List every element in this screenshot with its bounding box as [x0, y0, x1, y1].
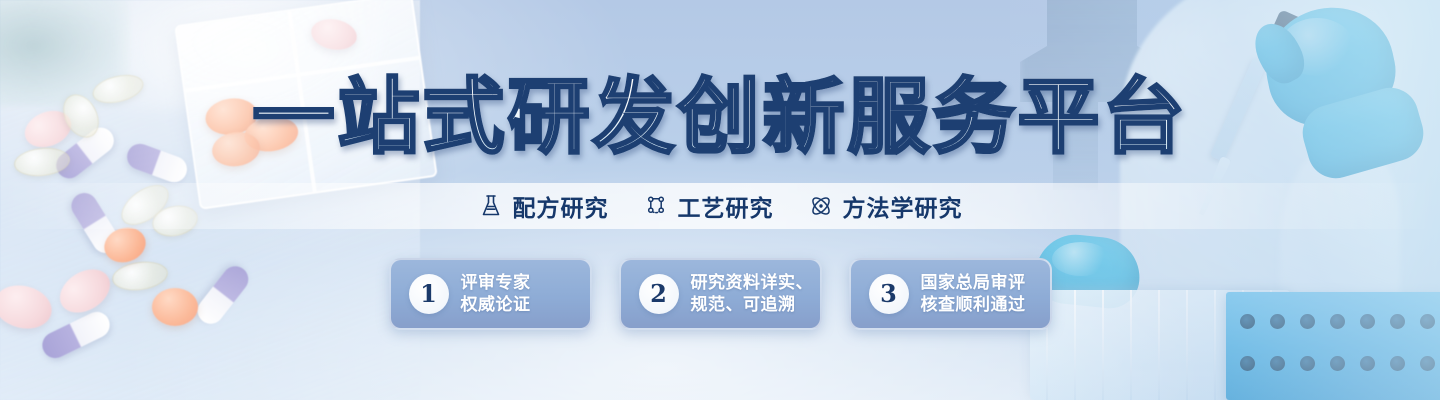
- service-item-methodology[interactable]: 方法学研究: [808, 189, 963, 223]
- page-title: 一站式研发创新服务平台: [0, 72, 1440, 164]
- feature-number-badge: 2: [639, 274, 679, 314]
- feature-card-list: 1 评审专家 权威论证 2 研究资料详实、 规范、可追溯 3 国家总局审评 核查…: [0, 258, 1440, 330]
- feature-card-1[interactable]: 1 评审专家 权威论证: [389, 258, 592, 330]
- feature-line-1: 研究资料详实、: [691, 272, 814, 294]
- feature-number-badge: 1: [409, 274, 449, 314]
- service-item-process[interactable]: 工艺研究: [643, 189, 774, 223]
- molecule-icon: [643, 193, 669, 219]
- flask-icon: [478, 193, 504, 219]
- service-label: 方法学研究: [843, 189, 963, 223]
- hero-banner: 一站式研发创新服务平台 配方研究: [0, 0, 1440, 400]
- feature-line-1: 国家总局审评: [921, 272, 1026, 294]
- service-label: 工艺研究: [678, 189, 774, 223]
- feature-card-3[interactable]: 3 国家总局审评 核查顺利通过: [849, 258, 1052, 330]
- service-list: 配方研究 工艺研究: [0, 183, 1440, 229]
- service-label: 配方研究: [513, 189, 609, 223]
- feature-text: 评审专家 权威论证: [461, 272, 531, 316]
- service-item-formulation[interactable]: 配方研究: [478, 189, 609, 223]
- feature-line-2: 核查顺利通过: [921, 294, 1026, 316]
- feature-text: 国家总局审评 核查顺利通过: [921, 272, 1026, 316]
- feature-line-2: 权威论证: [461, 294, 531, 316]
- feature-text: 研究资料详实、 规范、可追溯: [691, 272, 814, 316]
- feature-number-badge: 3: [869, 274, 909, 314]
- feature-line-2: 规范、可追溯: [691, 294, 814, 316]
- feature-line-1: 评审专家: [461, 272, 531, 294]
- atom-icon: [808, 193, 834, 219]
- feature-card-2[interactable]: 2 研究资料详实、 规范、可追溯: [619, 258, 822, 330]
